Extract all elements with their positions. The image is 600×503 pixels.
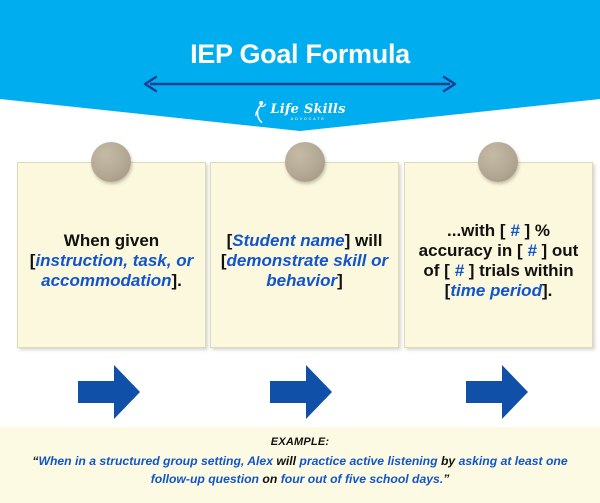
- right-arrow-icon: [464, 363, 530, 421]
- logo-wordmark: Life Skills ADVOCATE: [270, 103, 345, 121]
- text-segment: demonstrate skill or behavior: [227, 251, 389, 290]
- logo-sub-text: ADVOCATE: [291, 117, 326, 121]
- text-segment: by: [438, 454, 459, 468]
- text-segment: #: [527, 241, 536, 260]
- right-arrow-icon: [76, 363, 142, 421]
- pin-circle-icon: [91, 142, 131, 182]
- double-headed-arrow-icon: [140, 74, 460, 94]
- formula-card-3-text: ...with [ # ] % accuracy in [ # ] out of…: [414, 221, 583, 301]
- person-figure-logo-icon: [254, 100, 267, 124]
- text-segment: Student name: [232, 231, 344, 250]
- formula-card-2: [Student name] will [demonstrate skill o…: [210, 162, 399, 348]
- text-segment: time period: [450, 281, 542, 300]
- logo-main-text: Life Skills: [270, 103, 345, 116]
- text-segment: practice active listening: [299, 454, 437, 468]
- text-segment: When given: [64, 231, 159, 250]
- arrow-row: [0, 363, 600, 421]
- formula-card-1: When given [instruction, task, or accomm…: [17, 162, 206, 348]
- example-quote: “When in a structured group setting, Ale…: [8, 453, 592, 488]
- text-segment: on: [259, 472, 281, 486]
- text-segment: ]: [337, 271, 343, 290]
- text-segment: When in a structured group setting, Alex: [38, 454, 273, 468]
- text-segment: instruction, task, or accommodation: [35, 251, 193, 290]
- example-label: EXAMPLE:: [8, 436, 592, 448]
- right-arrow-icon: [268, 363, 334, 421]
- formula-card-1-text: When given [instruction, task, or accomm…: [27, 231, 196, 291]
- text-segment: will: [273, 454, 299, 468]
- example-band: EXAMPLE: “When in a structured group set…: [0, 427, 600, 503]
- pin-circle-icon: [285, 142, 325, 182]
- formula-card-2-text: [Student name] will [demonstrate skill o…: [220, 231, 389, 291]
- text-segment: ].: [171, 271, 181, 290]
- formula-card-3: ...with [ # ] % accuracy in [ # ] out of…: [404, 162, 593, 348]
- text-segment: #: [455, 261, 464, 280]
- text-segment: ].: [542, 281, 552, 300]
- pin-circle-icon: [478, 142, 518, 182]
- brand-logo: Life Skills ADVOCATE: [0, 96, 600, 128]
- text-segment: #: [510, 221, 519, 240]
- text-segment: ...with [: [447, 221, 510, 240]
- text-segment: four out of five school days.: [281, 472, 444, 486]
- page-title: IEP Goal Formula: [0, 39, 600, 70]
- text-segment: ”: [443, 472, 449, 486]
